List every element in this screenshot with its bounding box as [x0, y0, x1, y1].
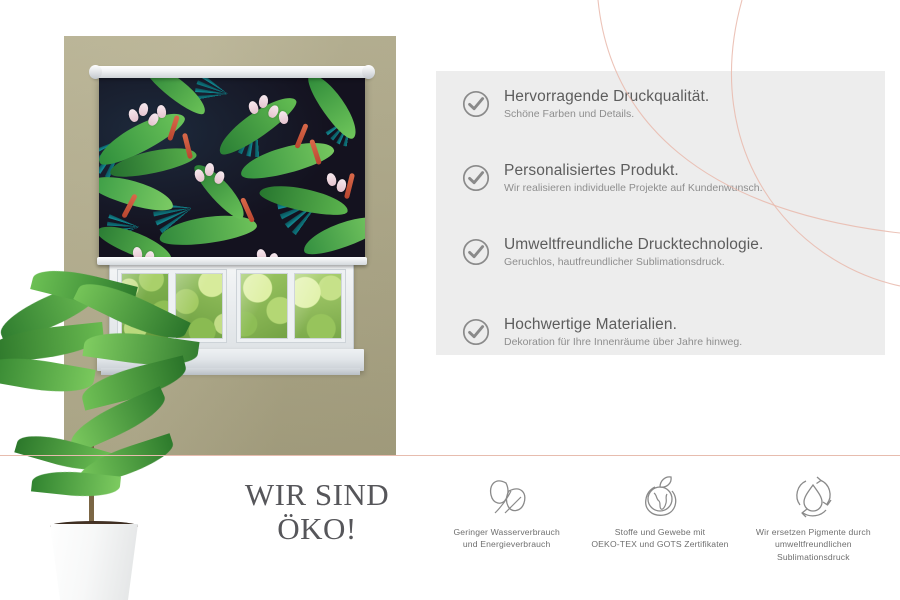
window-pane — [294, 273, 342, 339]
eco-badge: Geringer Wasserverbrauch und Energieverb… — [430, 470, 583, 563]
globe-leaf-icon — [589, 470, 730, 522]
eco-badges: Geringer Wasserverbrauch und Energieverb… — [430, 470, 890, 563]
eco-caption-line3: Sublimationsdruck — [743, 551, 884, 563]
feature-title: Hochwertige Materialien. — [504, 316, 882, 334]
check-circle-icon — [462, 164, 490, 192]
feature-subtitle: Schöne Farben und Details. — [504, 108, 882, 121]
promo-banner: Hervorragende Druckqualität. Schöne Farb… — [0, 0, 900, 600]
eco-heading-line2: ÖKO! — [222, 512, 412, 546]
feature-title: Hervorragende Druckqualität. — [504, 88, 882, 106]
water-drop-recycle-icon — [743, 470, 884, 522]
check-circle-icon — [462, 90, 490, 118]
window-pane — [240, 273, 288, 339]
feature-item: Personalisiertes Produkt. Wir realisiere… — [462, 162, 882, 224]
roller-blind-tube — [91, 66, 373, 78]
eco-caption-line1: Wir ersetzen Pigmente durch — [743, 526, 884, 538]
feature-item: Hochwertige Materialien. Dekoration für … — [462, 316, 882, 378]
feature-title: Personalisiertes Produkt. — [504, 162, 882, 180]
eco-badge: Wir ersetzen Pigmente durch umweltfreund… — [737, 470, 890, 563]
eco-caption-line1: Stoffe und Gewebe mit — [589, 526, 730, 538]
roller-blind-bottom-bar — [97, 257, 367, 265]
eco-heading-line1: WIR SIND — [222, 478, 412, 512]
eco-caption-line1: Geringer Wasserverbrauch — [436, 526, 577, 538]
potted-palm-plant — [0, 272, 207, 600]
eco-caption-line2: und Energieverbrauch — [436, 538, 577, 550]
eco-caption-line2: umweltfreundlichen — [743, 538, 884, 550]
eco-caption: Geringer Wasserverbrauch und Energieverb… — [436, 526, 577, 551]
check-circle-icon — [462, 318, 490, 346]
feature-item: Umweltfreundliche Drucktechnologie. Geru… — [462, 236, 882, 298]
roller-blind-fabric — [99, 77, 365, 259]
feature-item: Hervorragende Druckqualität. Schöne Farb… — [462, 88, 882, 150]
two-leaves-icon — [436, 470, 577, 522]
eco-caption-line2: OEKO-TEX und GOTS Zertifikaten — [589, 538, 730, 550]
window-sash-right — [236, 269, 346, 343]
tropical-pattern — [99, 77, 365, 259]
feature-subtitle: Wir realisieren individuelle Projekte au… — [504, 182, 882, 195]
eco-badge: Stoffe und Gewebe mit OEKO-TEX und GOTS … — [583, 470, 736, 563]
feature-subtitle: Geruchlos, hautfreundlicher Sublimations… — [504, 256, 882, 269]
feature-title: Umweltfreundliche Drucktechnologie. — [504, 236, 882, 254]
check-circle-icon — [462, 238, 490, 266]
eco-heading: WIR SIND ÖKO! — [222, 478, 412, 546]
feature-subtitle: Dekoration für Ihre Innenräume über Jahr… — [504, 336, 882, 349]
section-divider — [0, 455, 900, 456]
eco-caption: Wir ersetzen Pigmente durch umweltfreund… — [743, 526, 884, 563]
plant-pot — [44, 524, 144, 600]
roller-blind — [97, 66, 367, 266]
eco-caption: Stoffe und Gewebe mit OEKO-TEX und GOTS … — [589, 526, 730, 551]
features-list: Hervorragende Druckqualität. Schöne Farb… — [462, 88, 882, 390]
